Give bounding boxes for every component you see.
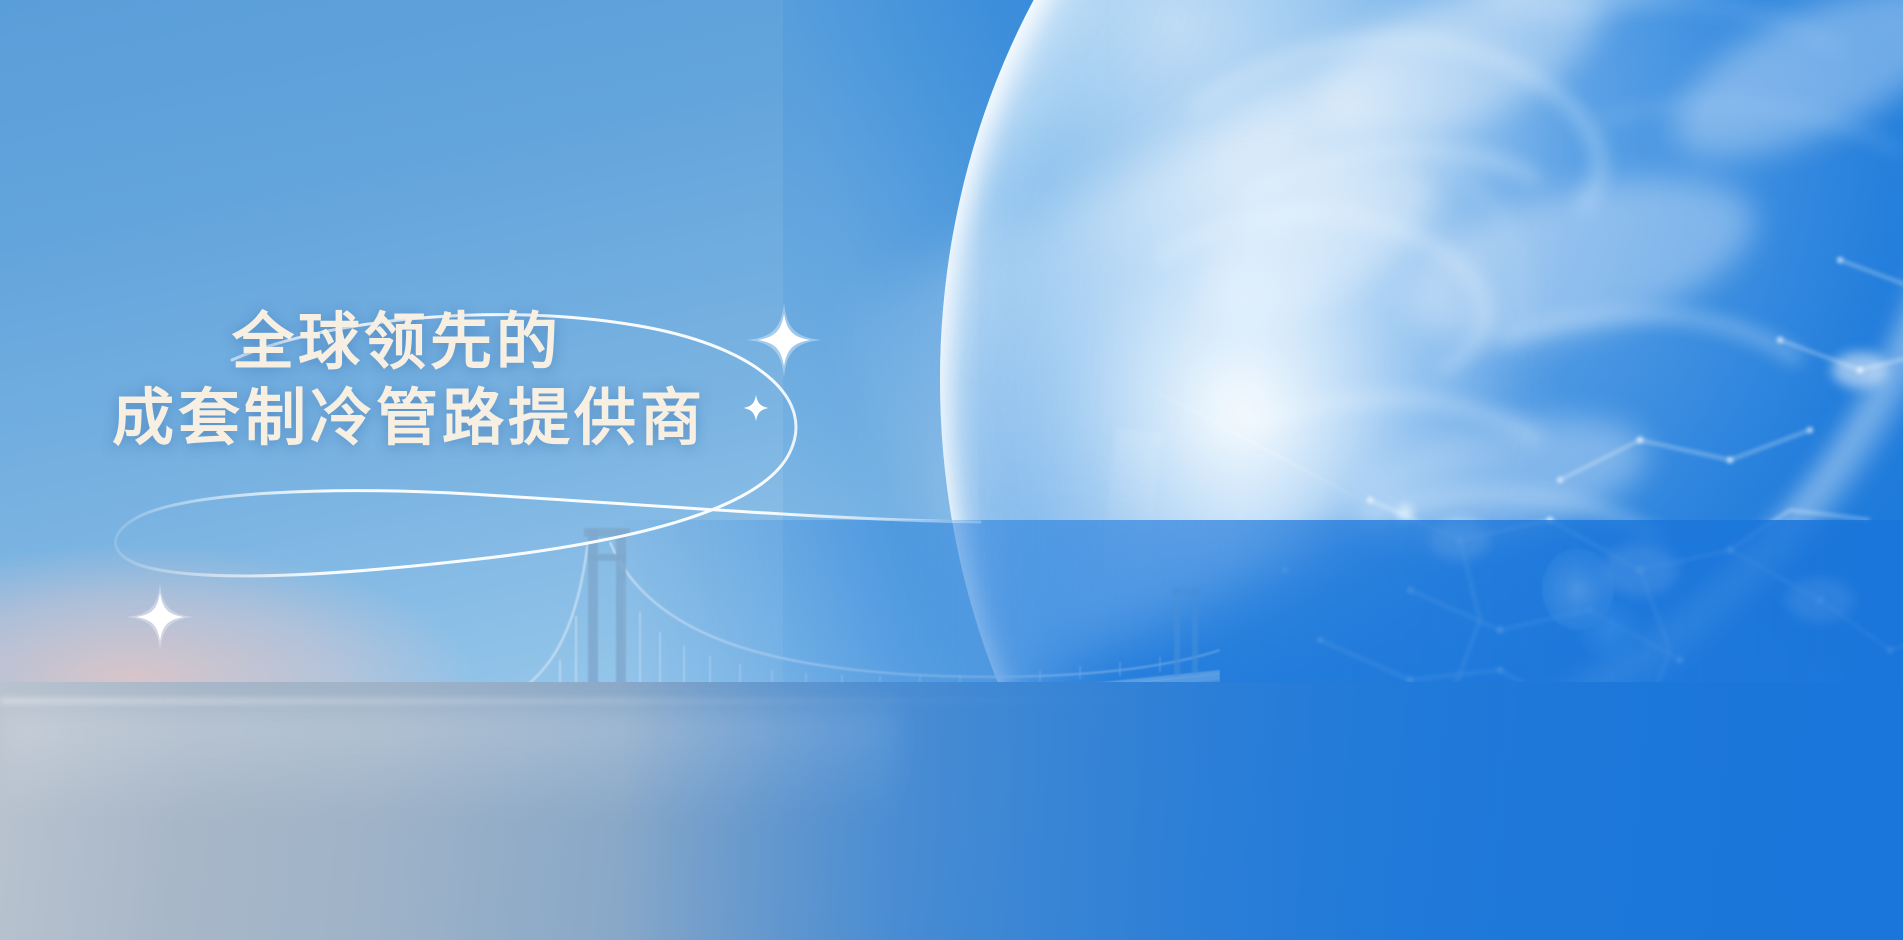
headline-line-1: 全球领先的 (232, 305, 812, 381)
hero-banner: 全球领先的 成套制冷管路提供商 (0, 0, 1903, 940)
headline-block: 全球领先的 成套制冷管路提供商 (112, 305, 812, 457)
water-sheen (0, 710, 900, 820)
headline-line-2: 成套制冷管路提供商 (112, 381, 812, 457)
shoreline-highlight (0, 698, 1180, 704)
